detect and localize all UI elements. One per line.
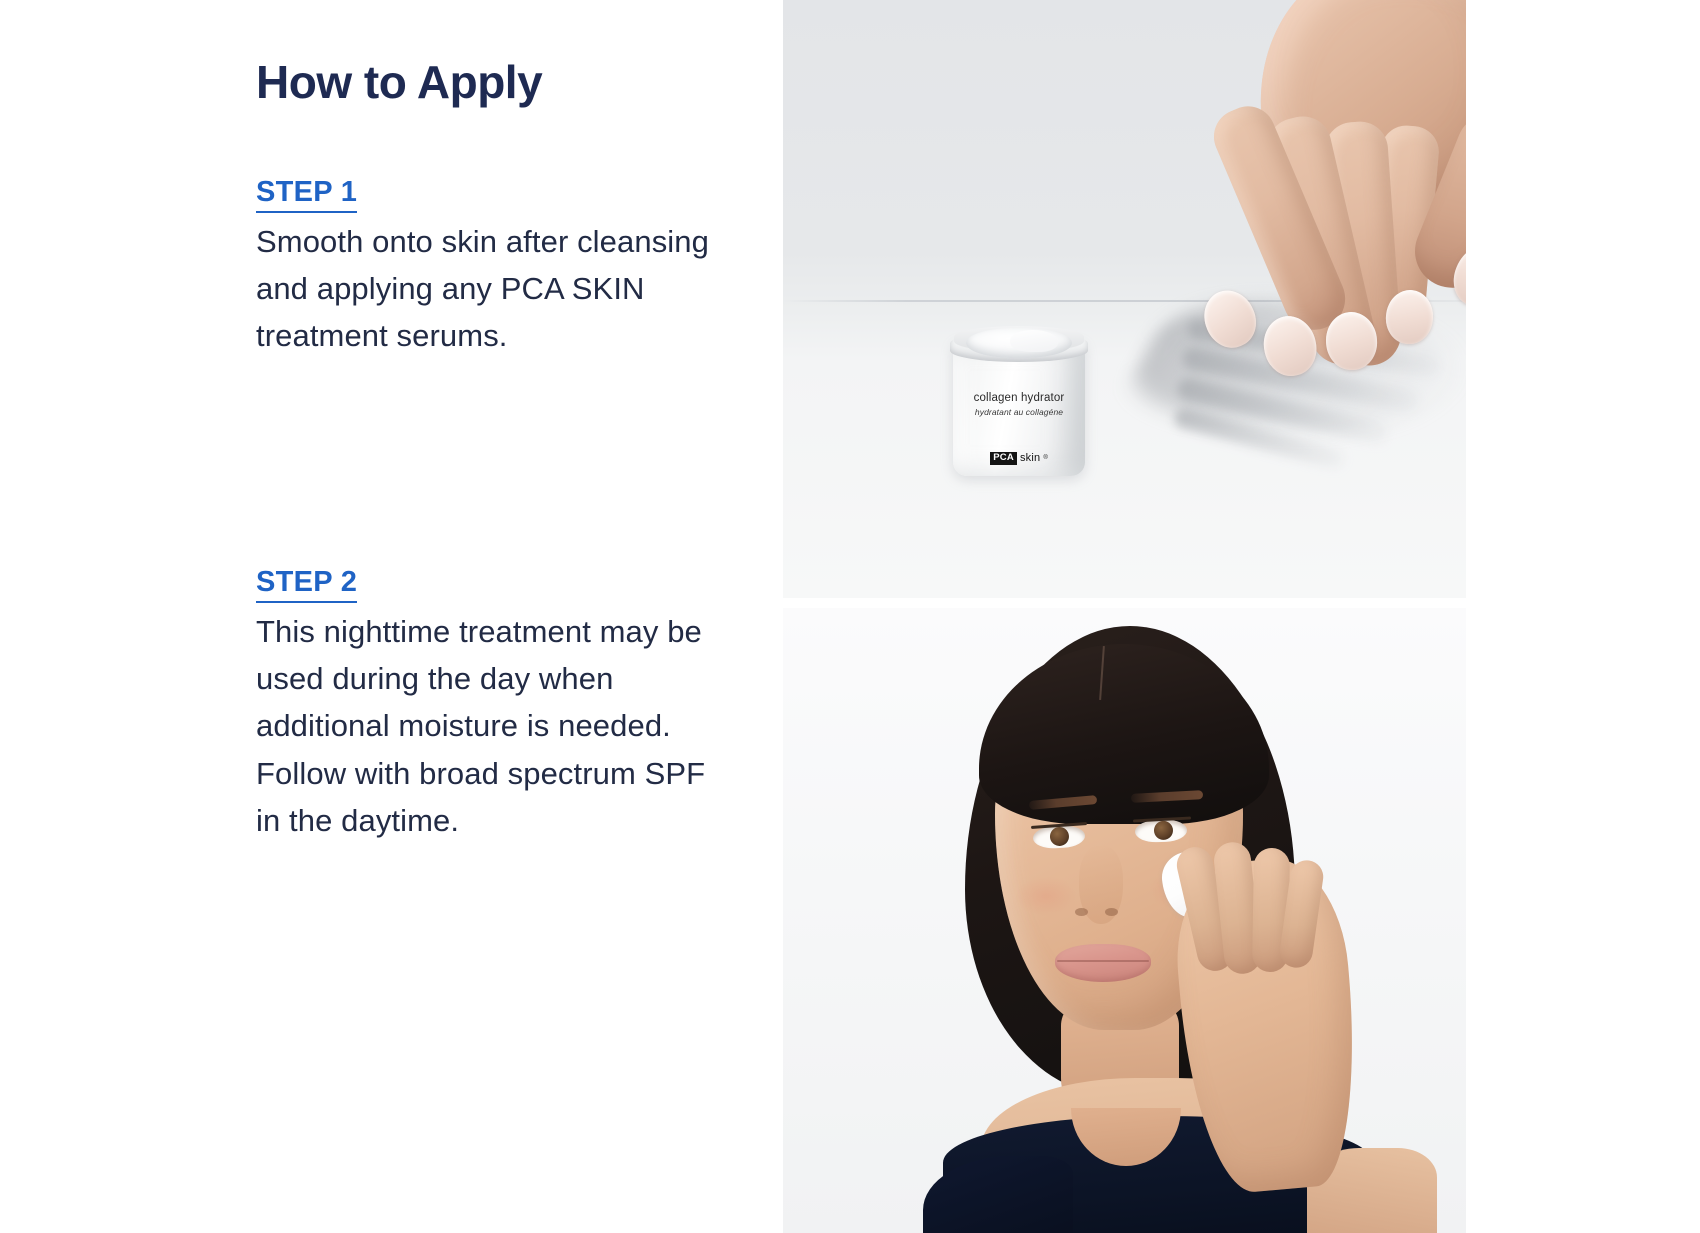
registered-trademark-icon: ® (1043, 455, 1047, 461)
how-to-apply-page: How to Apply STEP 1 Smooth onto skin aft… (0, 0, 1700, 1233)
step-2-body: This nighttime treatment may be used dur… (256, 608, 736, 844)
product-name: collagen hydrator (953, 392, 1085, 404)
product-name-french: hydratant au collagéne (953, 408, 1085, 417)
nostril (1105, 908, 1118, 916)
skin-logo-word: skin (1020, 452, 1040, 464)
step-2-label: STEP 2 (256, 565, 357, 603)
product-application-photo: collagen hydrator hydratant au collagéne… (783, 0, 1466, 598)
jar-label: collagen hydrator hydratant au collagéne (953, 392, 1085, 417)
iris (1049, 826, 1069, 846)
step-2-block: STEP 2 This nighttime treatment may be u… (256, 565, 746, 844)
product-jar: collagen hydrator hydratant au collagéne… (953, 318, 1085, 476)
page-title: How to Apply (256, 57, 542, 108)
cream-peak (1010, 330, 1058, 352)
iris (1154, 821, 1174, 841)
step-1-label: STEP 1 (256, 175, 357, 213)
cheek-highlight (1015, 876, 1077, 916)
hand (1083, 0, 1466, 360)
lips (1055, 944, 1151, 982)
nostril (1075, 908, 1088, 916)
pca-skin-logo: PCA skin ® (953, 452, 1085, 465)
pca-logo-mark: PCA (990, 452, 1017, 465)
instructions-column: How to Apply STEP 1 Smooth onto skin aft… (256, 0, 746, 1233)
fingernail (1196, 283, 1265, 356)
lip-line (1057, 960, 1149, 962)
model-application-photo (783, 608, 1466, 1233)
step-1-block: STEP 1 Smooth onto skin after cleansing … (256, 175, 746, 360)
cream-surface (966, 328, 1072, 358)
photo-column: collagen hydrator hydratant au collagéne… (783, 0, 1466, 1233)
step-1-body: Smooth onto skin after cleansing and app… (256, 218, 736, 359)
